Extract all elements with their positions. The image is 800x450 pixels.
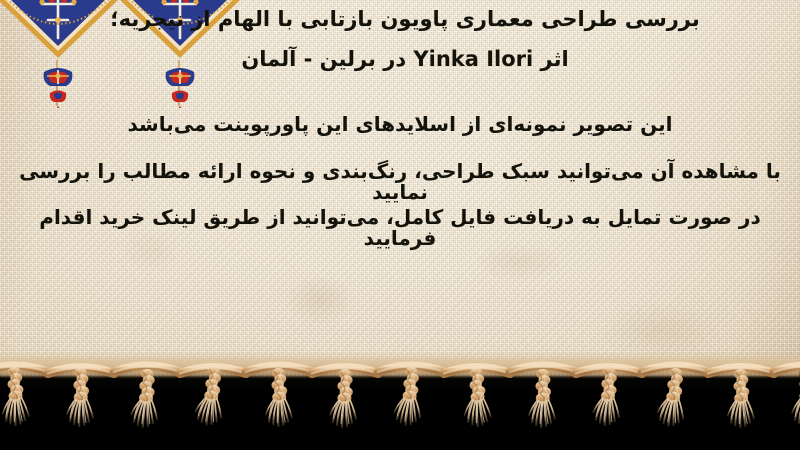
bottom-black-band [0,368,800,450]
slide-canvas: بررسی طراحی معماری پاویون بازتابی با اله… [0,0,800,450]
slide-title-line-1: بررسی طراحی معماری پاویون بازتابی با اله… [20,8,790,30]
slide-text-block: بررسی طراحی معماری پاویون بازتابی با اله… [0,0,800,372]
slide-body-line-3: در صورت تمایل به دریافت فایل کامل، می‌تو… [5,207,795,249]
slide-title-line-2: اثر Yinka Ilori در برلین - آلمان [20,48,790,70]
slide-body-line-2: با مشاهده آن می‌توانید سبک طراحی، رنگ‌بن… [5,161,795,203]
slide-body-line-1: این تصویر نمونه‌ای از اسلایدهای این پاور… [5,114,795,135]
carpet-selvedge-fuzz [0,358,800,376]
